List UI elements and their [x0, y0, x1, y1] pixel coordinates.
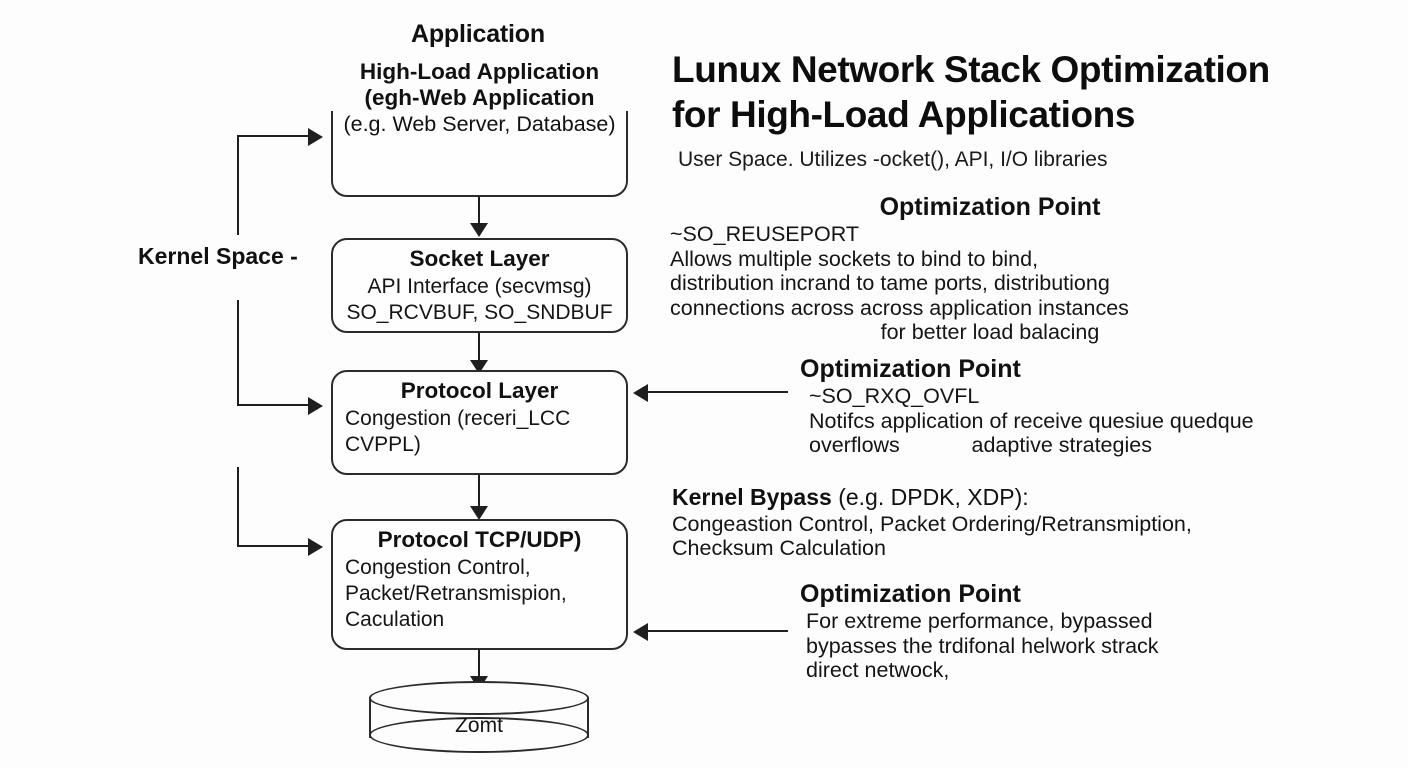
arrowhead-right-tcp-udp: [308, 538, 323, 556]
annotation-opt-rxq-ovfl-heading: Optimization Point: [800, 355, 1400, 384]
node-protocol-layer[interactable]: Protocol Layer Congestion (receri_LCC CV…: [331, 370, 628, 475]
annotation-line: connections across across application in…: [670, 296, 1310, 321]
node-protocol-tcp-udp-sub-line3: Caculation: [333, 608, 626, 632]
node-protocol-tcp-udp-title: Protocol TCP/UDP): [333, 527, 626, 554]
node-socket-layer-title: Socket Layer: [333, 246, 626, 273]
annotation-kernel-bypass-heading: Kernel Bypass (e.g. DPDK, XDP):: [672, 484, 1322, 512]
annotation-opt-rxq-ovfl-body: ~SO_RXQ_OVFL Notifcs application of rece…: [800, 384, 1400, 458]
annotation-opt-bypass-body: For extreme performance, bypassed bypass…: [800, 609, 1400, 683]
node-socket-layer[interactable]: Socket Layer API Interface (secvmsg) SO_…: [331, 238, 628, 333]
application-column-header: Application: [411, 20, 545, 49]
kernel-bracket-segment-2: [237, 300, 239, 406]
node-protocol-tcp-udp-title-rest: TCP/UDP): [469, 527, 582, 552]
node-protocol-tcp-udp-sub-line2: Packet/Retransmispion,: [333, 582, 626, 606]
annotation-line: ~SO_RXQ_OVFL: [809, 384, 1400, 409]
datastore-top-ellipse: [369, 681, 589, 715]
annotation-line: distribution incrand to tame ports, dist…: [670, 271, 1310, 296]
annotation-opt-bypass-heading: Optimization Point: [800, 580, 1400, 609]
node-protocol-layer-sub-line1: Congestion (receri_LCC: [333, 407, 626, 431]
node-socket-layer-sub-line2: SO_RCVBUF, SO_SNDBUF: [333, 301, 626, 325]
annotation-kernel-bypass-heading-bold: Kernel Bypass: [672, 484, 832, 510]
page-title-line1: Lunux Network Stack Optimization: [672, 47, 1372, 92]
arrowhead-left-tcp-udp: [633, 623, 648, 641]
annotation-line: overflows adaptive strategies: [809, 433, 1400, 458]
kernel-bracket-arm-1: [237, 135, 310, 137]
annotation-kernel-bypass-heading-rest: (e.g. DPDK, XDP):: [832, 484, 1029, 510]
diagram-canvas: Application Kernel Space - High-Load App…: [0, 0, 1408, 768]
connector-rxq-to-protocol-layer: [648, 391, 788, 393]
annotation-line: For extreme performance, bypassed: [806, 609, 1400, 634]
annotation-line: for better load balacing: [670, 320, 1310, 345]
kernel-space-label: Kernel Space -: [138, 243, 298, 270]
page-subtitle: User Space. Utilizes -ocket(), API, I/O …: [678, 146, 1107, 173]
annotation-line: direct netwock,: [806, 658, 1400, 683]
node-protocol-layer-title: Protocol Layer: [333, 378, 626, 405]
arrowhead-left-protocol-layer: [633, 384, 648, 402]
page-title: Lunux Network Stack Optimization for Hig…: [672, 47, 1372, 137]
annotation-line: bypasses the trdifonal helwork strack: [806, 634, 1400, 659]
node-application-title-line1: High-Load Application: [331, 59, 628, 85]
node-application-title-line2: (egh-Web Application: [331, 85, 628, 111]
annotation-line: Allows multiple sockets to bind to bind,: [670, 247, 1310, 272]
node-protocol-tcp-udp-sub-line1: Congestion Control,: [333, 556, 626, 580]
arrowhead-right-protocol-layer: [308, 397, 323, 415]
annotation-opt-reuseport-body: ~SO_REUSEPORT Allows multiple sockets to…: [670, 222, 1310, 345]
arrowhead-down-tcpudp: [470, 506, 488, 520]
connector-protocol-to-tcpudp: [478, 475, 480, 510]
node-protocol-layer-sub-line2: CVPPL): [333, 433, 626, 457]
annotation-line: Notifcs application of receive quesiue q…: [809, 409, 1400, 434]
kernel-bracket-arm-2: [237, 404, 310, 406]
annotation-line: Congeastion Control, Packet Ordering/Ret…: [672, 512, 1322, 537]
node-application-subtitle: (e.g. Web Server, Database): [326, 112, 633, 137]
annotation-opt-reuseport-heading: Optimization Point: [670, 193, 1310, 222]
annotation-opt-bypass: Optimization Point For extreme performan…: [800, 580, 1400, 683]
annotation-kernel-bypass: Kernel Bypass (e.g. DPDK, XDP): Congeast…: [672, 484, 1322, 561]
annotation-line: Checksum Calculation: [672, 536, 1322, 561]
datastore-label: Zomt: [369, 714, 589, 738]
page-title-line2: for High-Load Applications: [672, 92, 1372, 137]
node-protocol-tcp-udp-title-bold: Protocol: [378, 527, 469, 552]
node-protocol-tcp-udp[interactable]: Protocol TCP/UDP) Congestion Control, Pa…: [331, 519, 628, 650]
node-socket-layer-sub-line1: API Interface (secvmsg): [333, 275, 626, 299]
datastore-zomt[interactable]: Zomt: [369, 681, 589, 751]
annotation-opt-reuseport: Optimization Point ~SO_REUSEPORT Allows …: [670, 193, 1310, 345]
kernel-bracket-segment-1: [237, 135, 239, 235]
arrowhead-right-application: [308, 128, 323, 146]
connector-bypass-to-tcp-udp: [648, 630, 788, 632]
annotation-line: ~SO_REUSEPORT: [670, 222, 1310, 247]
annotation-kernel-bypass-body: Congeastion Control, Packet Ordering/Ret…: [672, 512, 1322, 561]
annotation-opt-rxq-ovfl: Optimization Point ~SO_RXQ_OVFL Notifcs …: [800, 355, 1400, 458]
arrowhead-down-socket: [470, 223, 488, 237]
kernel-bracket-arm-3: [237, 545, 310, 547]
kernel-bracket-segment-3: [237, 467, 239, 547]
